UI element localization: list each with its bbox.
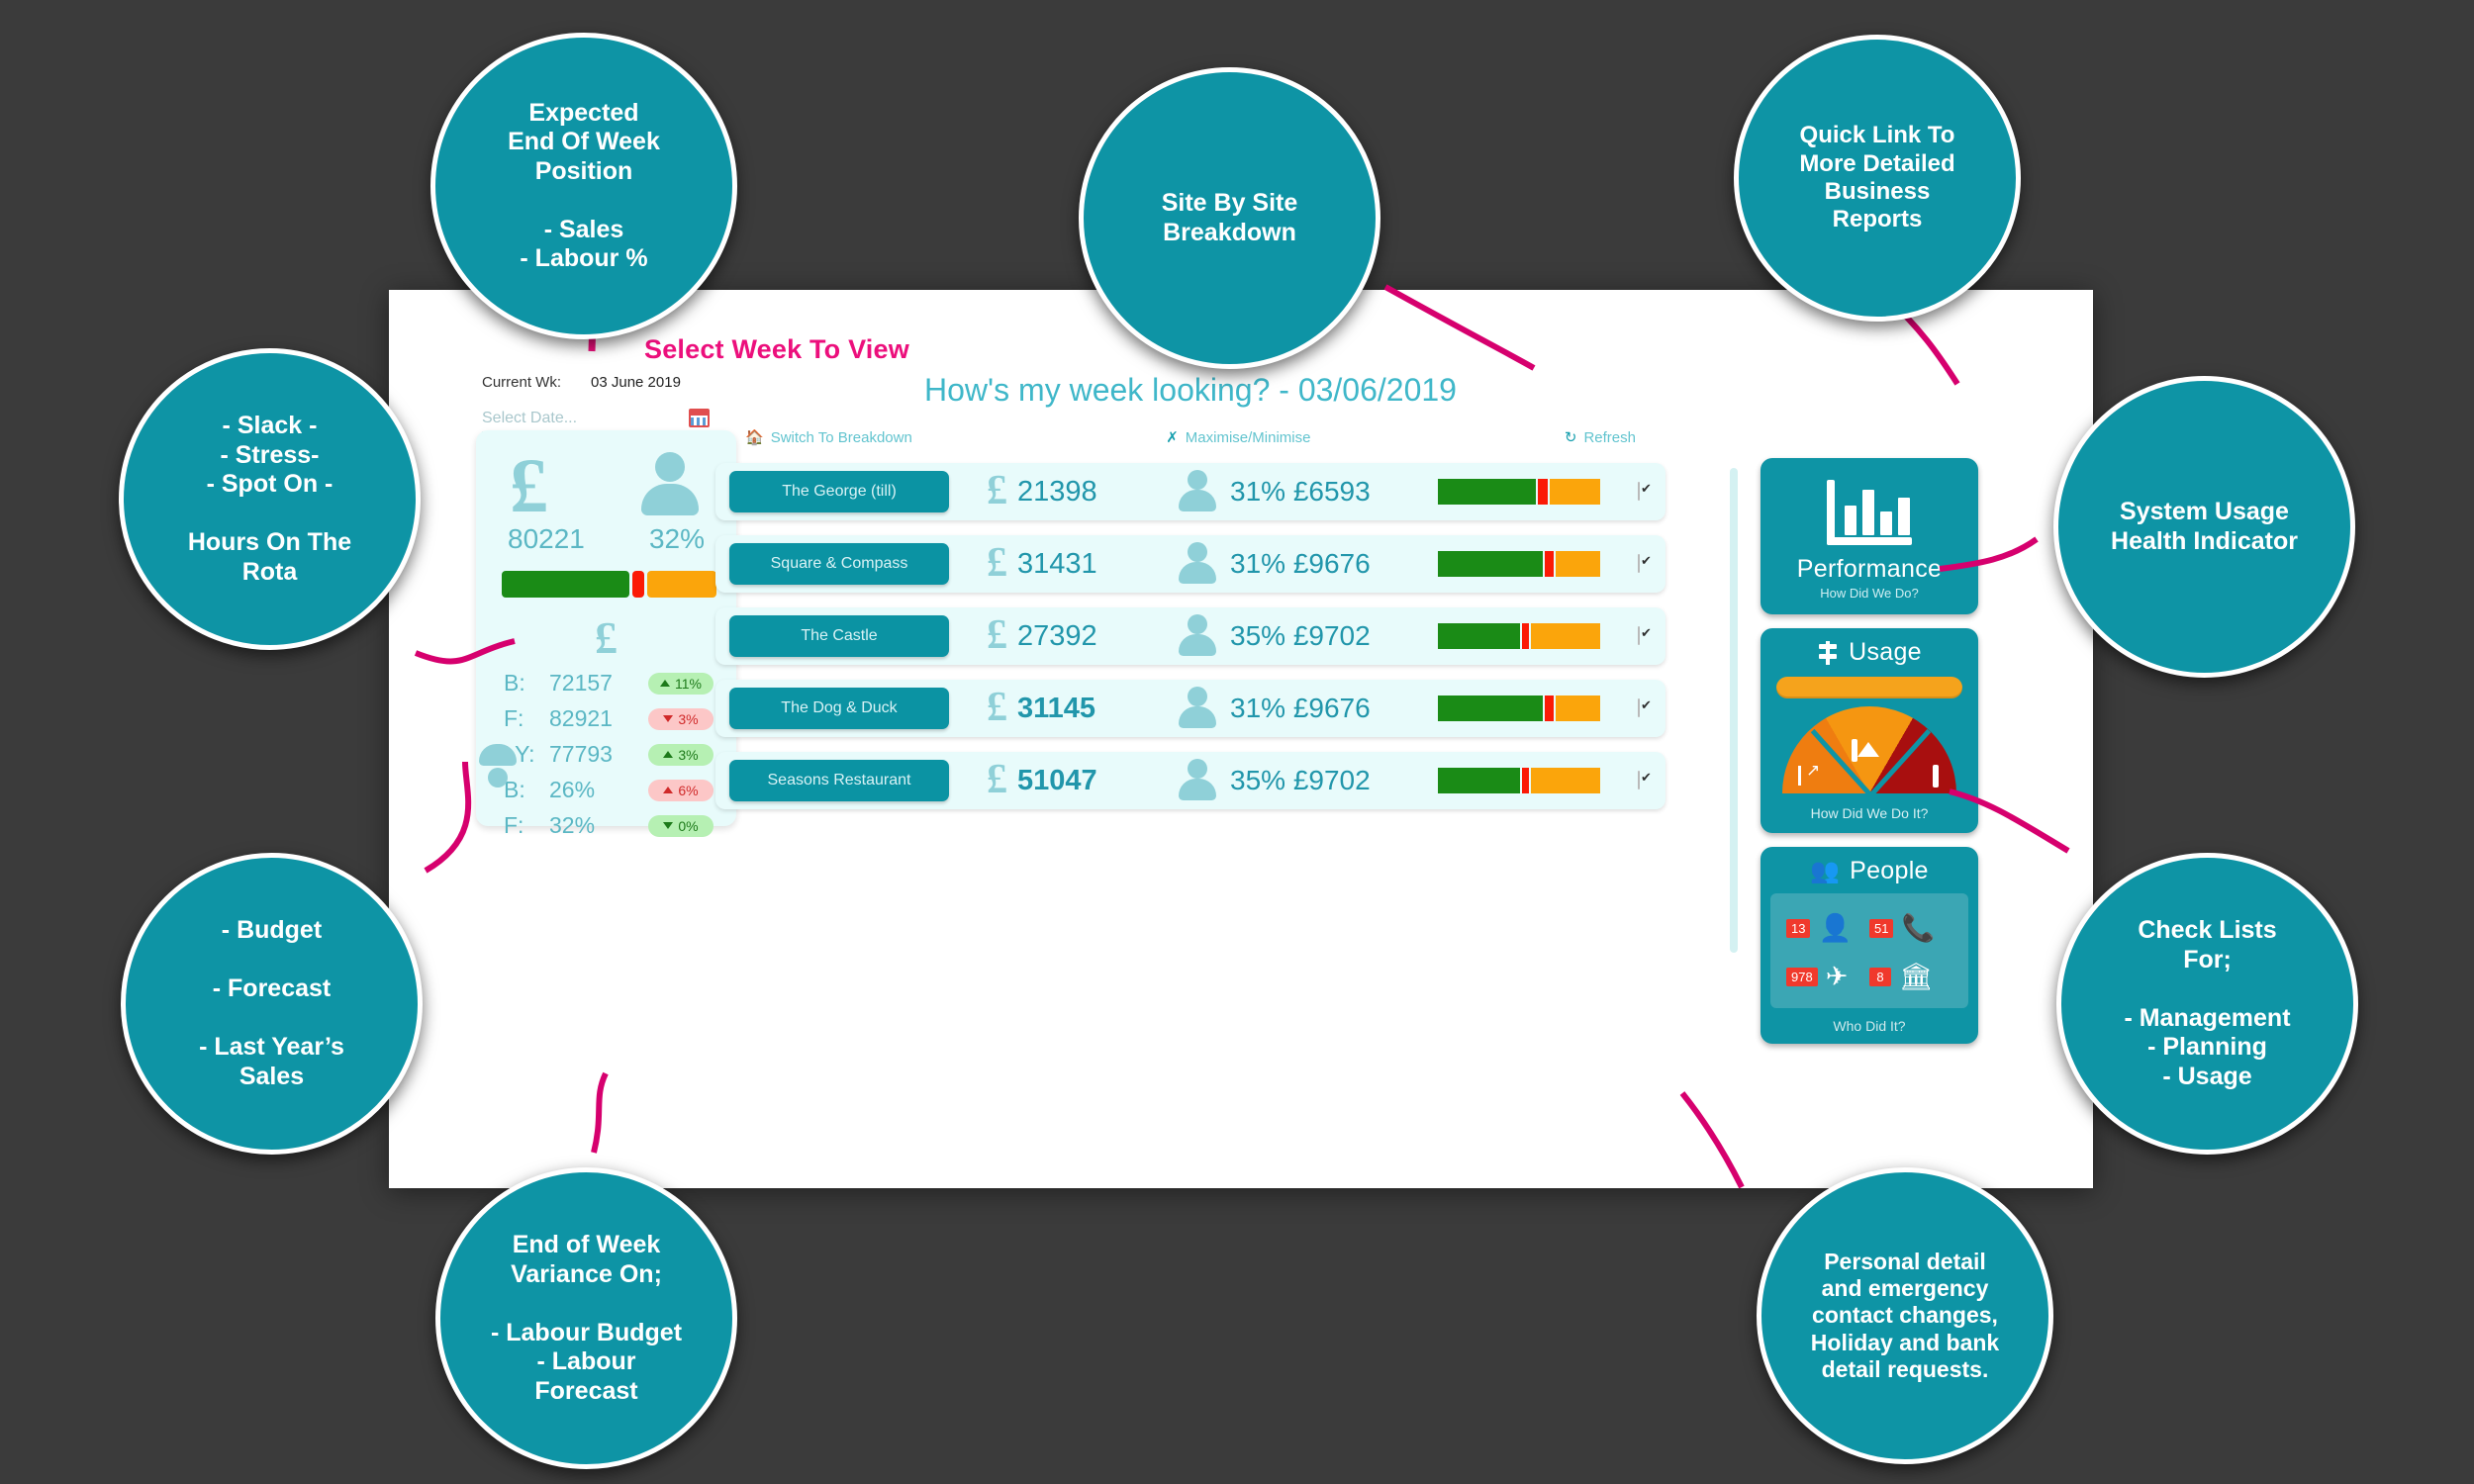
bar-segment-amber: [1556, 696, 1600, 721]
site-name-button[interactable]: Square & Compass: [729, 543, 949, 585]
bar-segment-green: [1438, 479, 1536, 505]
variance-row: F:829213%: [498, 705, 714, 732]
refresh-button[interactable]: ↻ Refresh: [1565, 428, 1636, 446]
sales-variance-list: B:7215711%F:829213%LY:777933%: [498, 670, 714, 768]
site-list-scrollbar[interactable]: [1730, 468, 1738, 953]
site-sales-value: 31145: [1017, 693, 1095, 725]
labour-variance-list: B:26%6%F:32%0%: [498, 777, 714, 839]
site-sales-value: 31431: [1017, 548, 1097, 581]
current-week-row: Current Wk: 03 June 2019: [482, 374, 724, 391]
bar-segment-amber: [1531, 768, 1600, 793]
site-name-button[interactable]: The Castle: [729, 615, 949, 657]
site-sales-cell: £21398: [949, 475, 1177, 509]
person-icon: [1177, 542, 1218, 586]
variance-chip: 11%: [648, 673, 714, 695]
document-icon: [1933, 768, 1939, 786]
variance-chip: 6%: [648, 780, 714, 801]
summary-progress-bar: [502, 571, 711, 598]
bar-segment-red: [1545, 551, 1555, 577]
bar-segment-amber: [1556, 551, 1600, 577]
performance-subtitle: How Did We Do?: [1770, 586, 1968, 601]
summary-sales-total: 80221: [508, 523, 585, 555]
site-name-button[interactable]: Seasons Restaurant: [729, 760, 949, 801]
phone-icon: 📞: [1901, 915, 1935, 942]
week-picker: Current Wk: 03 June 2019 Select Date...: [482, 374, 724, 432]
site-labour-cell: 35% £9702: [1177, 759, 1434, 802]
site-progress-bar: [1438, 696, 1596, 721]
site-sales-value: 21398: [1017, 476, 1097, 509]
site-rows-list: The George (till)£2139831% £6593Square &…: [715, 463, 1710, 824]
people-counter[interactable]: 51📞: [1869, 915, 1952, 942]
people-header: 👥 People: [1760, 857, 1978, 893]
variance-key: F:: [504, 812, 549, 839]
person-icon: [1177, 470, 1218, 513]
site-checkbox[interactable]: [1638, 698, 1640, 717]
site-progress-bar: [1438, 768, 1596, 793]
usage-title: Usage: [1849, 638, 1922, 667]
bar-segment-green: [1438, 768, 1520, 793]
site-checkbox[interactable]: [1638, 482, 1640, 501]
screenshot-stage: Select Week To View Current Wk: 03 June …: [0, 0, 2474, 1484]
sales-section-pound-icon: £: [498, 615, 714, 661]
summary-values: 80221 32%: [498, 517, 714, 555]
variance-value: 82921: [549, 705, 648, 732]
count-badge: 13: [1786, 919, 1810, 938]
site-name-button[interactable]: The Dog & Duck: [729, 688, 949, 729]
site-name-button[interactable]: The George (till): [729, 471, 949, 512]
variance-chip: 0%: [648, 815, 714, 837]
bar-segment-green: [502, 571, 629, 598]
people-widget[interactable]: 👥 People 13👤51📞978✈8🏛 Who Did It?: [1760, 847, 1978, 1044]
variance-value: 72157: [549, 670, 648, 696]
refresh-icon: ↻: [1565, 428, 1577, 446]
people-counter[interactable]: 8🏛: [1869, 964, 1952, 990]
bar-segment-amber: [1550, 479, 1600, 505]
pound-icon: £: [987, 475, 1007, 509]
site-labour-cell: 35% £9702: [1177, 614, 1434, 658]
annotation-quick-link-reports: Quick Link To More Detailed Business Rep…: [1734, 35, 2021, 322]
site-sales-value: 51047: [1017, 765, 1097, 797]
trend-up-icon: [1798, 766, 1801, 784]
summary-labour-pct: 32%: [649, 523, 705, 555]
bar-segment-green: [1438, 696, 1543, 721]
person-icon: [1177, 759, 1218, 802]
variance-value: 32%: [549, 812, 648, 839]
people-counter[interactable]: 978✈: [1786, 964, 1869, 990]
variance-value: 26%: [549, 777, 648, 803]
plane-icon: ✈: [1826, 964, 1849, 990]
site-row[interactable]: The George (till)£2139831% £6593: [715, 463, 1665, 520]
pound-icon: £: [987, 547, 1007, 581]
site-labour-value: 35% £9702: [1230, 765, 1371, 796]
site-progress-bar: [1438, 623, 1596, 649]
site-row[interactable]: Square & Compass£3143131% £9676: [715, 535, 1665, 593]
people-subtitle: Who Did It?: [1760, 1018, 1978, 1034]
variance-chip: 3%: [648, 708, 714, 730]
annotation-rota-hours: - Slack - - Stress- - Spot On - Hours On…: [119, 348, 421, 650]
site-checkbox-wrap[interactable]: [1638, 555, 1640, 573]
usage-subtitle: How Did We Do It?: [1774, 805, 1964, 821]
area-chart-icon: [1852, 742, 1857, 760]
variance-key: B:: [504, 670, 549, 696]
person-icon: 👤: [1818, 915, 1852, 942]
bar-segment-amber: [1531, 623, 1600, 649]
site-labour-cell: 31% £9676: [1177, 687, 1434, 730]
performance-title: Performance: [1770, 555, 1968, 584]
variance-key: B:: [504, 777, 549, 803]
variance-row: LY:777933%: [498, 741, 714, 768]
site-sales-value: 27392: [1017, 620, 1097, 653]
site-checkbox-wrap[interactable]: [1638, 483, 1640, 501]
usage-status-pill: [1776, 677, 1962, 698]
site-sales-cell: £31145: [949, 692, 1177, 725]
site-sales-cell: £31431: [949, 547, 1177, 581]
site-row[interactable]: Seasons Restaurant£5104735% £9702: [715, 752, 1665, 809]
pound-icon: £: [510, 454, 548, 517]
bar-segment-amber: [647, 571, 716, 598]
site-labour-cell: 31% £6593: [1177, 470, 1434, 513]
usage-widget[interactable]: Usage How Did We Do It?: [1760, 628, 1978, 833]
dashboard-window: Select Week To View Current Wk: 03 June …: [389, 290, 2093, 1188]
switch-to-breakdown-button[interactable]: 🏠 Switch To Breakdown: [745, 428, 912, 446]
pound-icon: £: [987, 619, 1007, 653]
site-labour-value: 31% £6593: [1230, 476, 1371, 508]
site-checkbox[interactable]: [1638, 554, 1640, 573]
week-summary-card: £ 80221 32% £ B:7215711%F:829213%LY:7779…: [476, 430, 736, 826]
annotation-budget-forecast: - Budget - Forecast - Last Year’s Sales: [121, 853, 423, 1155]
person-icon: [1177, 614, 1218, 658]
site-checkbox[interactable]: [1638, 771, 1640, 789]
site-labour-value: 31% £9676: [1230, 548, 1371, 580]
home-icon: 🏠: [745, 428, 764, 446]
usage-header: Usage: [1774, 638, 1964, 667]
widget-column: Performance How Did We Do? Usage: [1760, 458, 1978, 1058]
site-checkbox-wrap[interactable]: [1638, 772, 1640, 789]
count-badge: 8: [1869, 968, 1891, 986]
main-toolbar: 🏠 Switch To Breakdown ✗ Maximise/Minimis…: [715, 428, 1665, 446]
site-checkbox-wrap[interactable]: [1638, 699, 1640, 717]
maximise-minimise-button[interactable]: ✗ Maximise/Minimise: [1166, 428, 1310, 446]
annotation-variance: End of Week Variance On; - Labour Budget…: [435, 1167, 737, 1469]
person-icon: [637, 452, 703, 517]
site-checkbox[interactable]: [1638, 626, 1640, 645]
switch-to-breakdown-label: Switch To Breakdown: [771, 429, 912, 446]
bar-segment-red: [1522, 768, 1528, 793]
annotation-check-lists: Check Lists For; - Management - Planning…: [2056, 853, 2358, 1155]
summary-icons: £: [498, 448, 714, 517]
people-counter[interactable]: 13👤: [1786, 915, 1869, 942]
annotation-expected-position: Expected End Of Week Position - Sales - …: [430, 33, 737, 339]
site-labour-cell: 31% £9676: [1177, 542, 1434, 586]
count-badge: 51: [1869, 919, 1893, 938]
site-labour-value: 35% £9702: [1230, 620, 1371, 652]
bar-segment-red: [1522, 623, 1528, 649]
bar-segment-red: [1538, 479, 1548, 505]
bar-segment-red: [1545, 696, 1555, 721]
variance-key: F:: [504, 705, 549, 732]
select-week-heading: Select Week To View: [644, 334, 909, 365]
variance-row: B:7215711%: [498, 670, 714, 696]
variance-value: 77793: [549, 741, 648, 768]
maximise-minimise-label: Maximise/Minimise: [1186, 429, 1311, 446]
bar-segment-green: [1438, 551, 1543, 577]
bar-segment-green: [1438, 623, 1520, 649]
variance-row: B:26%6%: [498, 777, 714, 803]
bar-segment-red: [632, 571, 645, 598]
site-sales-cell: £27392: [949, 619, 1177, 653]
date-input[interactable]: Select Date...: [482, 409, 710, 432]
date-input-placeholder: Select Date...: [482, 410, 577, 427]
person-icon: [1177, 687, 1218, 730]
people-counters: 13👤51📞978✈8🏛: [1770, 893, 1968, 1008]
calendar-icon[interactable]: [689, 409, 710, 427]
site-row[interactable]: The Castle£2739235% £9702: [715, 607, 1665, 665]
bank-icon: 🏛: [1899, 964, 1933, 990]
page-title: How's my week looking? - 03/06/2019: [715, 372, 1665, 409]
refresh-label: Refresh: [1583, 429, 1636, 446]
current-week-value: 03 June 2019: [591, 374, 681, 391]
pound-icon: £: [987, 692, 1007, 725]
site-row[interactable]: The Dog & Duck£3114531% £9676: [715, 680, 1665, 737]
site-progress-bar: [1438, 479, 1596, 505]
people-group-icon: 👥: [1810, 857, 1840, 885]
site-progress-bar: [1438, 551, 1596, 577]
variance-row: F:32%0%: [498, 812, 714, 839]
site-sales-cell: £51047: [949, 764, 1177, 797]
site-labour-value: 31% £9676: [1230, 693, 1371, 724]
site-checkbox-wrap[interactable]: [1638, 627, 1640, 645]
people-title: People: [1850, 857, 1929, 885]
signpost-icon: [1817, 641, 1839, 665]
annotation-system-usage: System Usage Health Indicator: [2053, 376, 2355, 678]
annotation-site-breakdown: Site By Site Breakdown: [1079, 67, 1380, 369]
performance-widget[interactable]: Performance How Did We Do?: [1760, 458, 1978, 614]
annotation-personal-detail: Personal detail and emergency contact ch…: [1757, 1167, 2053, 1464]
pound-icon: £: [987, 764, 1007, 797]
usage-gauge: [1782, 706, 1956, 795]
bar-chart-icon: [1827, 480, 1912, 545]
variance-chip: 3%: [648, 744, 714, 766]
expand-icon: ✗: [1166, 428, 1179, 446]
current-week-label: Current Wk:: [482, 374, 591, 391]
count-badge: 978: [1786, 968, 1818, 986]
